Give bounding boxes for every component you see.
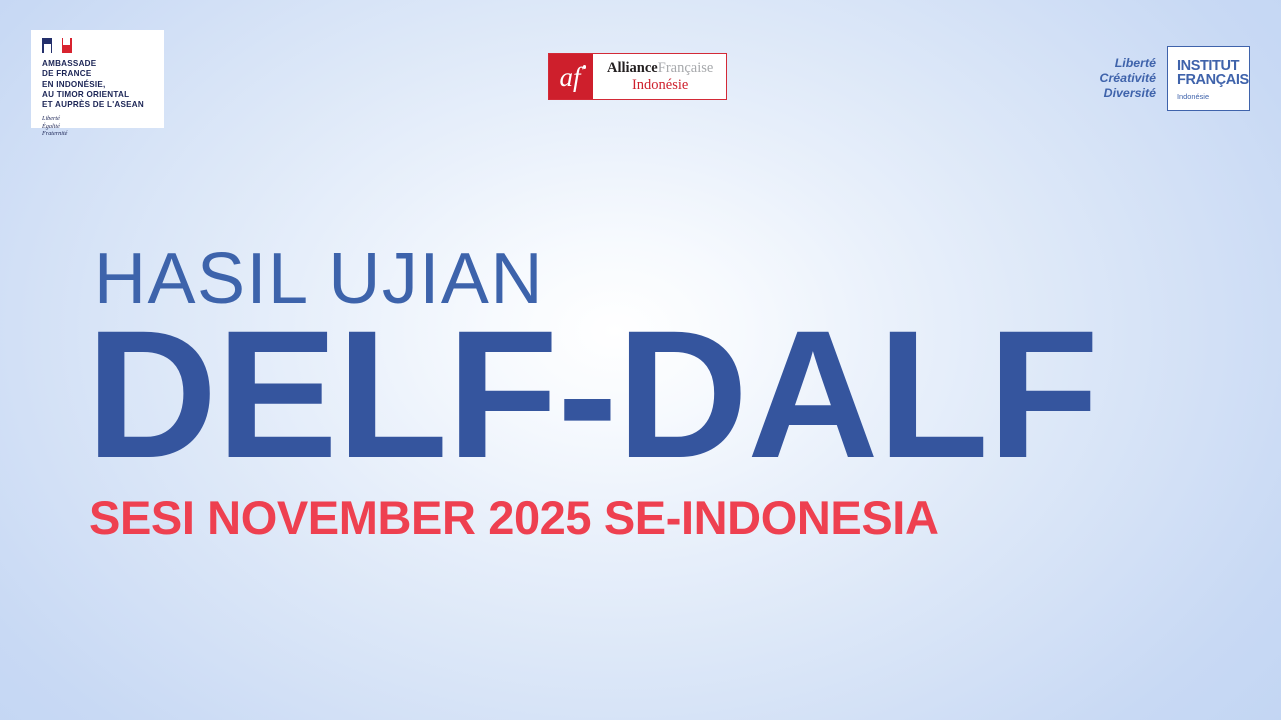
- page-title: DELF-DALF: [86, 318, 1281, 470]
- motto-liberte: Liberté: [42, 115, 164, 122]
- francaise-word: Française: [658, 60, 714, 76]
- ambassade-line-5: ET AUPRÈS DE L'ASEAN: [42, 100, 164, 110]
- af-monogram-text: af: [559, 64, 580, 91]
- institut-motto-diversite: Diversité: [1100, 86, 1156, 101]
- alliance-country-word: Indonésie: [632, 77, 688, 94]
- institut-country: Indonésie: [1177, 92, 1249, 101]
- ambassade-name-block: AMBASSADE DE FRANCE EN INDONÉSIE, AU TIM…: [42, 59, 164, 110]
- institut-motto-creativite: Créativité: [1100, 71, 1156, 86]
- alliance-francaise-logo: af AllianceFrançaise Indonésie: [548, 53, 727, 100]
- ambassade-line-2: DE FRANCE: [42, 69, 164, 79]
- institut-name-line-1: INSTITUT: [1177, 59, 1249, 73]
- institut-name-line-2: FRANÇAIS: [1177, 73, 1249, 87]
- french-flag-marianne-icon: [42, 38, 72, 53]
- ambassade-motto: Liberté Égalité Fraternité: [42, 115, 164, 137]
- alliance-word: Alliance: [607, 60, 658, 76]
- alliance-wordmark: AllianceFrançaise Indonésie: [593, 54, 726, 99]
- ambassade-line-3: EN INDONÉSIE,: [42, 80, 164, 90]
- institut-francais-logo: Liberté Créativité Diversité INSTITUT FR…: [1100, 46, 1250, 111]
- af-monogram-dot: [583, 65, 587, 69]
- page-subtitle: SESI NOVEMBER 2025 SE-INDONESIA: [89, 492, 1281, 544]
- logo-bar: AMBASSADE DE FRANCE EN INDONÉSIE, AU TIM…: [0, 0, 1281, 140]
- ambassade-de-france-logo: AMBASSADE DE FRANCE EN INDONÉSIE, AU TIM…: [31, 30, 164, 128]
- motto-fraternite: Fraternité: [42, 130, 164, 137]
- motto-egalite: Égalité: [42, 123, 164, 130]
- alliance-af-monogram-icon: af: [549, 54, 593, 99]
- poster-canvas: AMBASSADE DE FRANCE EN INDONÉSIE, AU TIM…: [0, 0, 1281, 720]
- institut-motto-liberte: Liberté: [1100, 56, 1156, 71]
- alliance-wordmark-line-1: AllianceFrançaise: [607, 60, 713, 77]
- institut-motto: Liberté Créativité Diversité: [1100, 56, 1156, 102]
- headline-block: HASIL UJIAN DELF-DALF SESI NOVEMBER 2025…: [0, 236, 1281, 544]
- ambassade-line-4: AU TIMOR ORIENTAL: [42, 90, 164, 100]
- institut-francais-badge: INSTITUT FRANÇAIS Indonésie: [1167, 46, 1250, 111]
- ambassade-line-1: AMBASSADE: [42, 59, 164, 69]
